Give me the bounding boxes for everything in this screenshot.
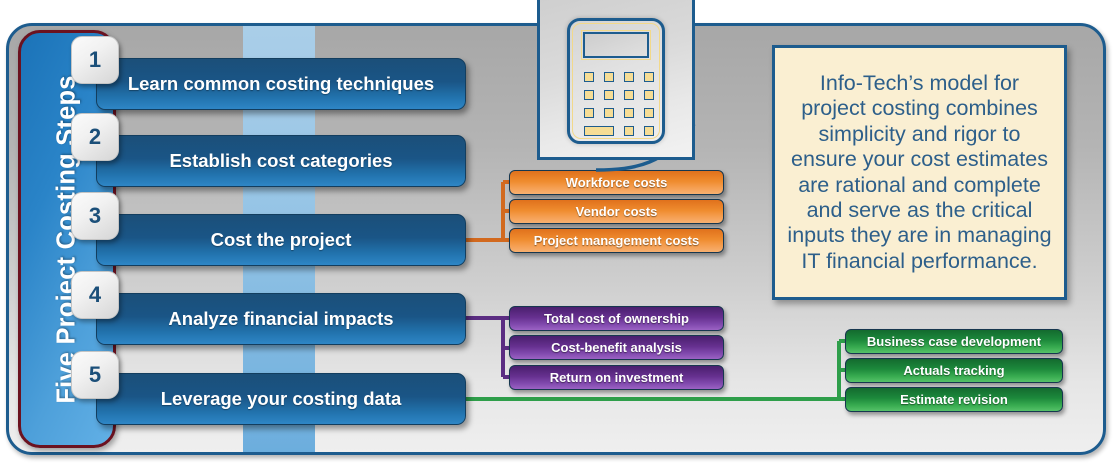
step-number-4: 4 xyxy=(71,271,119,319)
step-number-5: 5 xyxy=(71,351,119,399)
callout-box: Info-Tech’s model for project costing co… xyxy=(772,45,1067,300)
cost-category-box-1[interactable]: Workforce costs xyxy=(509,170,724,195)
leverage-output-box-3[interactable]: Estimate revision xyxy=(845,387,1063,412)
calculator-key-r4c4 xyxy=(644,126,654,136)
step-bar-2[interactable]: Establish cost categories xyxy=(96,135,466,187)
step-number-text-3: 3 xyxy=(89,203,101,229)
calculator-key-r2c2 xyxy=(604,90,614,100)
leverage-output-label-3: Estimate revision xyxy=(900,392,1008,407)
step-label-3: Cost the project xyxy=(211,229,352,251)
calculator-key-r2c1 xyxy=(584,90,594,100)
cost-category-label-3: Project management costs xyxy=(534,233,699,248)
leverage-output-box-1[interactable]: Business case development xyxy=(845,329,1063,354)
financial-analysis-box-2[interactable]: Cost-benefit analysis xyxy=(509,335,724,360)
financial-analysis-label-3: Return on investment xyxy=(550,370,684,385)
calculator-key-r3c2 xyxy=(604,108,614,118)
calculator-key-r1c3 xyxy=(624,72,634,82)
calculator-key-r1c4 xyxy=(644,72,654,82)
calculator-key-r3c4 xyxy=(644,108,654,118)
leverage-output-box-2[interactable]: Actuals tracking xyxy=(845,358,1063,383)
step-number-text-2: 2 xyxy=(89,124,101,150)
financial-analysis-label-1: Total cost of ownership xyxy=(544,311,689,326)
calculator-key-r4c3 xyxy=(624,126,634,136)
calculator-display xyxy=(583,32,649,58)
cost-category-box-2[interactable]: Vendor costs xyxy=(509,199,724,224)
purple-connector xyxy=(466,318,509,377)
financial-analysis-box-3[interactable]: Return on investment xyxy=(509,365,724,390)
infographic-canvas: Five Project Costing Steps Lear xyxy=(0,0,1120,466)
orange-connector xyxy=(466,182,509,240)
calculator-key-r1c2 xyxy=(604,72,614,82)
step-bar-4[interactable]: Analyze financial impacts xyxy=(96,293,466,345)
financial-analysis-label-2: Cost-benefit analysis xyxy=(551,340,682,355)
step-label-4: Analyze financial impacts xyxy=(168,308,393,330)
step-bar-3[interactable]: Cost the project xyxy=(96,214,466,266)
cost-category-label-2: Vendor costs xyxy=(576,204,658,219)
calculator-key-r4-wide xyxy=(584,126,614,136)
step-number-3: 3 xyxy=(71,192,119,240)
step-label-1: Learn common costing techniques xyxy=(128,73,434,95)
calculator-key-r1c1 xyxy=(584,72,594,82)
financial-analysis-box-1[interactable]: Total cost of ownership xyxy=(509,306,724,331)
calculator-key-r2c4 xyxy=(644,90,654,100)
leverage-output-label-2: Actuals tracking xyxy=(903,363,1004,378)
step-number-text-4: 4 xyxy=(89,282,101,308)
cost-category-label-1: Workforce costs xyxy=(566,175,668,190)
calculator-key-r3c1 xyxy=(584,108,594,118)
step-number-text-1: 1 xyxy=(89,47,101,73)
callout-text: Info-Tech’s model for project costing co… xyxy=(787,71,1052,274)
step-number-1: 1 xyxy=(71,36,119,84)
calculator-key-r2c3 xyxy=(624,90,634,100)
step-bar-5[interactable]: Leverage your costing data xyxy=(96,373,466,425)
step-number-text-5: 5 xyxy=(89,362,101,388)
step-number-2: 2 xyxy=(71,113,119,161)
step-label-5: Leverage your costing data xyxy=(161,388,402,410)
step-bar-1[interactable]: Learn common costing techniques xyxy=(96,58,466,110)
step-label-2: Establish cost categories xyxy=(169,150,392,172)
cost-category-box-3[interactable]: Project management costs xyxy=(509,228,724,253)
calculator-key-r3c3 xyxy=(624,108,634,118)
leverage-output-label-1: Business case development xyxy=(867,334,1041,349)
